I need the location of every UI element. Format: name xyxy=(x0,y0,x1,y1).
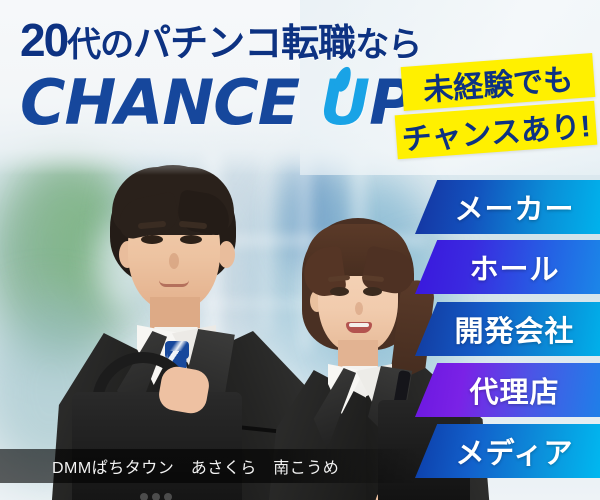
woman-mouth xyxy=(346,322,372,333)
man-ear-right xyxy=(218,241,235,268)
category-label: ホール xyxy=(455,246,559,288)
category-bar-media[interactable]: メディア xyxy=(415,424,600,478)
man-mouth xyxy=(159,280,189,287)
category-label: 代理店 xyxy=(455,369,559,411)
headline-age-number: 20 xyxy=(20,14,67,66)
page-title: 20代のパチンコ転職なら xyxy=(20,17,421,63)
briefcase-studs xyxy=(140,488,184,496)
man-nose xyxy=(169,253,179,269)
woman-bangs xyxy=(306,224,410,276)
category-bar-hall[interactable]: ホール xyxy=(415,240,600,294)
category-bar-development-company[interactable]: 開発会社 xyxy=(415,302,600,356)
logo-letter-u: U xyxy=(320,72,369,134)
caption-bar: DMMぱちタウン あさくら 南こうめ xyxy=(0,449,420,483)
headline-main: パチンコ転職 xyxy=(133,23,355,65)
woman-nose xyxy=(355,302,363,315)
man-eye-right xyxy=(180,235,202,244)
woman-eye-right xyxy=(363,287,382,296)
mans-briefcase xyxy=(72,392,242,500)
category-bar-agency[interactable]: 代理店 xyxy=(415,363,600,417)
category-bar-maker[interactable]: メーカー xyxy=(415,180,600,234)
category-label: メディア xyxy=(442,430,574,472)
woman-eye-left xyxy=(330,287,349,296)
caption-text: DMMぱちタウン あさくら 南こうめ xyxy=(0,454,339,478)
ad-banner[interactable]: 20代のパチンコ転職なら CHANCE UP 未経験でも チャンスあり! メーカ… xyxy=(0,0,600,500)
category-label: 開発会社 xyxy=(440,308,574,350)
man-eye-left xyxy=(141,235,163,244)
category-label: メーカー xyxy=(440,186,574,228)
headline-tail: なら xyxy=(355,26,421,64)
chance-up-logo: CHANCE UP xyxy=(20,72,414,134)
logo-text-chance: CHANCE xyxy=(20,66,320,139)
headline-age-suffix: 代の xyxy=(67,26,133,64)
man-hair xyxy=(112,167,234,235)
